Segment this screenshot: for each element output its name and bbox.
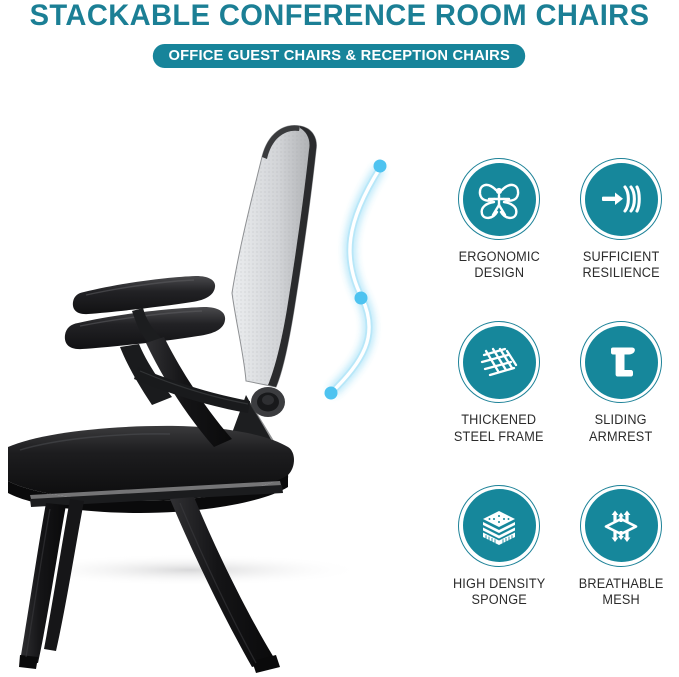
feature-disc xyxy=(463,163,536,236)
feature-thickened-steel-frame[interactable]: THICKENED STEEL FRAME xyxy=(441,321,557,484)
steel-lattice-icon xyxy=(474,337,524,387)
feature-high-density-sponge[interactable]: HIGH DENSITY SPONGE xyxy=(441,485,557,648)
feature-disc xyxy=(585,163,658,236)
curve-dot-bottom xyxy=(325,387,338,400)
feature-label: ERGONOMIC DESIGN xyxy=(458,249,539,282)
curve-dot-top xyxy=(374,160,387,173)
feature-badge xyxy=(580,485,662,567)
subtitle-badge: OFFICE GUEST CHAIRS & RECEPTION CHAIRS xyxy=(153,44,526,68)
feature-disc xyxy=(463,326,536,399)
breathable-mesh-icon xyxy=(596,501,646,551)
ergonomic-person-icon xyxy=(474,174,524,224)
feature-badge xyxy=(580,321,662,403)
chair-backrest xyxy=(232,125,316,387)
feature-label: BREATHABLE MESH xyxy=(579,576,664,609)
feature-breathable-mesh[interactable]: BREATHABLE MESH xyxy=(563,485,679,648)
sponge-layers-icon xyxy=(474,501,524,551)
curve-dot-middle xyxy=(355,292,368,305)
feature-badge xyxy=(458,321,540,403)
feature-label: HIGH DENSITY SPONGE xyxy=(453,576,546,609)
feature-ergonomic-design[interactable]: ERGONOMIC DESIGN xyxy=(441,158,557,321)
feature-sufficient-resilience[interactable]: SUFFICIENT RESILIENCE xyxy=(563,158,679,321)
feature-sliding-armrest[interactable]: SLIDING ARMREST xyxy=(563,321,679,484)
resilience-arrow-icon xyxy=(596,174,646,224)
feature-disc xyxy=(585,326,658,399)
feature-disc xyxy=(585,489,658,562)
feature-badge xyxy=(580,158,662,240)
feature-disc xyxy=(463,489,536,562)
feature-badge xyxy=(458,158,540,240)
subtitle-wrap: OFFICE GUEST CHAIRS & RECEPTION CHAIRS xyxy=(0,44,679,68)
feature-label: THICKENED STEEL FRAME xyxy=(454,412,544,445)
feature-grid: ERGONOMIC DESIGN xyxy=(441,158,679,648)
armrest-beam-icon xyxy=(596,337,646,387)
feature-label: SUFFICIENT RESILIENCE xyxy=(582,249,659,282)
infographic-page: STACKABLE CONFERENCE ROOM CHAIRS OFFICE … xyxy=(0,0,679,677)
feature-badge xyxy=(458,485,540,567)
page-title: STACKABLE CONFERENCE ROOM CHAIRS xyxy=(10,0,669,33)
ergonomic-spine-curve xyxy=(318,140,448,430)
feature-label: SLIDING ARMREST xyxy=(589,412,652,445)
header: STACKABLE CONFERENCE ROOM CHAIRS OFFICE … xyxy=(0,0,679,80)
